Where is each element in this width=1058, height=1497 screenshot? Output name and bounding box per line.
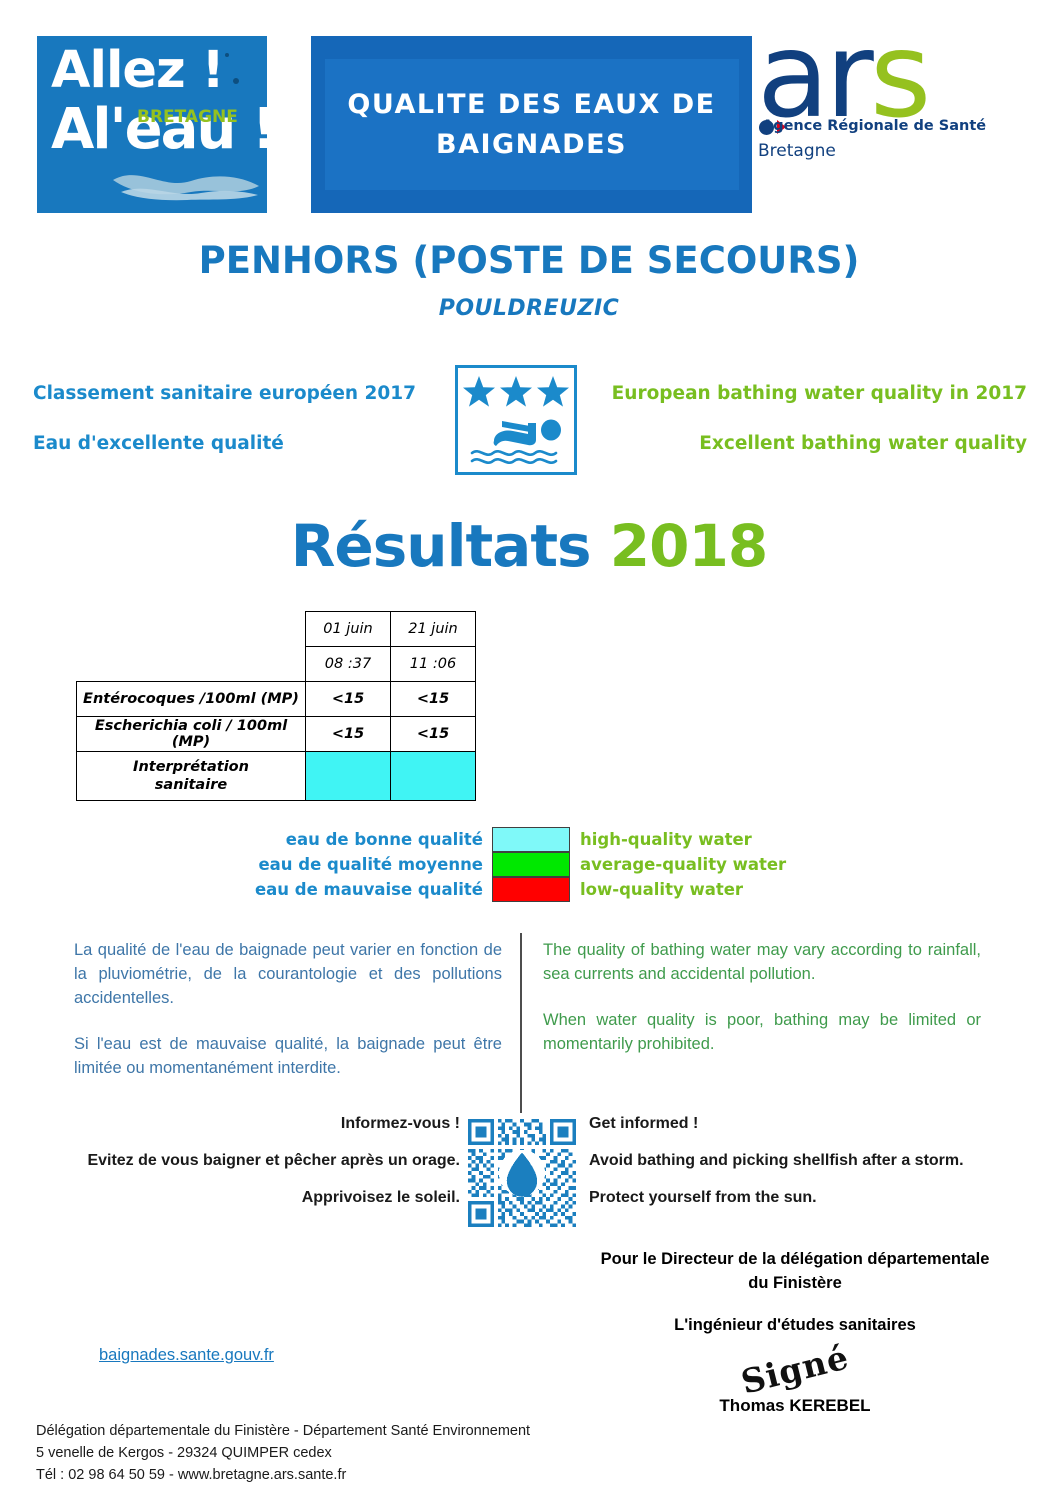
signature-block: Pour le Directeur de la délégation dépar…	[560, 1248, 1030, 1416]
vertical-divider	[520, 933, 522, 1113]
results-table: 01 juin 21 juin 08 :37 11 :06 Entérocoqu…	[76, 611, 476, 801]
logo-dot-medium	[233, 78, 239, 84]
signature-mark: Signé	[560, 1338, 1030, 1396]
table-cell-ecoli-2: <15	[391, 717, 476, 752]
document-footer: Délégation départementale du Finistère -…	[36, 1421, 530, 1486]
stars-icon	[463, 376, 569, 407]
advice-en-line-3: Protect yourself from the sun.	[589, 1189, 1039, 1207]
advice-en-line-2: Avoid bathing and picking shellfish afte…	[589, 1152, 1039, 1170]
signature-line-2: du Finistère	[560, 1272, 1030, 1296]
advice-list-fr: Informez-vous ! Evitez de vous baigner e…	[0, 1115, 460, 1226]
three-star-swimmer-badge	[455, 365, 577, 475]
info-fr-paragraph-2: Si l'eau est de mauvaise qualité, la bai…	[74, 1033, 502, 1081]
advice-fr-line-2: Evitez de vous baigner et pêcher après u…	[0, 1152, 460, 1170]
footer-line-1: Délégation départementale du Finistère -…	[36, 1421, 530, 1443]
table-cell-ecoli-1: <15	[306, 717, 391, 752]
logo-bretagne-label: BRETAGNE	[137, 109, 238, 126]
table-row: Escherichia coli / 100ml (MP) <15 <15	[77, 717, 476, 752]
table-time-2: 11 :06	[391, 647, 476, 682]
ars-logo: ars Agence Régionale de Santé Bretagne	[757, 26, 1022, 196]
table-row-dates: 01 juin 21 juin	[77, 612, 476, 647]
legend-fr-average: eau de qualité moyenne	[0, 855, 492, 874]
results-heading-word: Résultats	[291, 512, 591, 580]
classification-section: Classement sanitaire européen 2017 Eau d…	[0, 365, 1058, 485]
table-row-label-interpretation: Interprétation sanitaire	[77, 752, 306, 801]
ars-subtitle: Agence Régionale de Santé	[762, 118, 986, 134]
classification-en-title: European bathing water quality in 2017	[612, 383, 1027, 404]
classification-en-value: Excellent bathing water quality	[699, 433, 1027, 454]
page-subtitle-city: POULDREUZIC	[0, 296, 1058, 321]
legend-fr-low: eau de mauvaise qualité	[0, 880, 492, 899]
advice-list-en: Get informed ! Avoid bathing and picking…	[589, 1115, 1039, 1226]
signed-word: Signé	[737, 1337, 853, 1401]
signature-spacer	[560, 1296, 1030, 1314]
table-time-1: 08 :37	[306, 647, 391, 682]
document-header: Allez ! Al'eau ! BRETAGNE QUALITE DES EA…	[0, 0, 1058, 225]
classification-fr-title: Classement sanitaire européen 2017	[33, 383, 416, 404]
table-row-label-ecoli: Escherichia coli / 100ml (MP)	[77, 717, 306, 752]
legend-en-low: low-quality water	[570, 880, 743, 899]
banner-inner: QUALITE DES EAUX DE BAIGNADES	[325, 59, 739, 190]
footer-line-2: 5 venelle de Kergos - 29324 QUIMPER cede…	[36, 1443, 530, 1465]
info-section: La qualité de l'eau de baignade peut var…	[0, 933, 1058, 1098]
qr-code-graphic	[468, 1113, 576, 1233]
banner-line-1: QUALITE DES EAUX DE	[347, 85, 715, 124]
legend-row-low: eau de mauvaise qualité low-quality wate…	[0, 877, 1058, 902]
legend-swatch-high	[492, 827, 570, 852]
info-paragraphs-fr: La qualité de l'eau de baignade peut var…	[74, 939, 502, 1103]
ars-wordmark: ars	[757, 16, 927, 134]
info-en-paragraph-1: The quality of bathing water may vary ac…	[543, 939, 981, 987]
legend-swatch-average	[492, 852, 570, 877]
legend-fr-high: eau de bonne qualité	[0, 830, 492, 849]
table-cell-enterocoques-1: <15	[306, 682, 391, 717]
interpretation-label-line2: sanitaire	[77, 776, 305, 794]
waves-icon	[472, 451, 556, 462]
advice-en-line-1: Get informed !	[589, 1115, 1039, 1133]
advice-fr-line-1: Informez-vous !	[0, 1115, 460, 1133]
signature-line-1: Pour le Directeur de la délégation dépar…	[560, 1248, 1030, 1272]
table-date-1: 01 juin	[306, 612, 391, 647]
table-corner-cell	[77, 612, 306, 647]
table-row: Entérocoques /100ml (MP) <15 <15	[77, 682, 476, 717]
footer-line-3: Tél : 02 98 64 50 59 - www.bretagne.ars.…	[36, 1465, 530, 1487]
allez-a-leau-logo: Allez ! Al'eau ! BRETAGNE	[37, 36, 267, 213]
table-row-times: 08 :37 11 :06	[77, 647, 476, 682]
results-heading: Résultats 2018	[0, 512, 1058, 580]
info-en-paragraph-2: When water quality is poor, bathing may …	[543, 1009, 981, 1057]
qr-code[interactable]	[468, 1113, 576, 1233]
classification-fr-value: Eau d'excellente qualité	[33, 433, 284, 454]
banner-line-2: BAIGNADES	[436, 125, 627, 164]
logo-line-allez: Allez !	[51, 45, 224, 96]
legend-row-average: eau de qualité moyenne average-quality w…	[0, 852, 1058, 877]
badge-graphic	[458, 368, 574, 472]
info-paragraphs-en: The quality of bathing water may vary ac…	[543, 939, 981, 1079]
legend-en-high: high-quality water	[570, 830, 752, 849]
interpretation-label-line1: Interprétation	[77, 758, 305, 776]
document-page: Allez ! Al'eau ! BRETAGNE QUALITE DES EA…	[0, 0, 1058, 1497]
interpretation-swatch-1	[306, 752, 391, 801]
interpretation-swatch-2	[391, 752, 476, 801]
table-date-2: 21 juin	[391, 612, 476, 647]
legend-row-high: eau de bonne qualité high-quality water	[0, 827, 1058, 852]
signatory-name: Thomas KEREBEL	[560, 1396, 1030, 1416]
signature-line-3: L'ingénieur d'études sanitaires	[560, 1314, 1030, 1338]
document-banner: QUALITE DES EAUX DE BAIGNADES	[311, 36, 752, 213]
baignades-site-link[interactable]: baignades.sante.gouv.fr	[99, 1346, 274, 1365]
wave-icon	[111, 164, 261, 202]
info-fr-paragraph-1: La qualité de l'eau de baignade peut var…	[74, 939, 502, 1011]
ars-region: Bretagne	[758, 141, 836, 161]
legend-en-average: average-quality water	[570, 855, 786, 874]
table-cell-enterocoques-2: <15	[391, 682, 476, 717]
logo-dot-small	[225, 53, 229, 57]
table-row-interpretation: Interprétation sanitaire	[77, 752, 476, 801]
table-blank-cell	[77, 647, 306, 682]
page-title: PENHORS (POSTE DE SECOURS)	[0, 239, 1058, 282]
advice-fr-line-3: Apprivoisez le soleil.	[0, 1189, 460, 1207]
legend-swatch-low	[492, 877, 570, 902]
quality-legend: eau de bonne qualité high-quality water …	[0, 827, 1058, 909]
swimmer-icon	[494, 420, 561, 447]
table-row-label-enterocoques: Entérocoques /100ml (MP)	[77, 682, 306, 717]
results-heading-year: 2018	[610, 512, 767, 580]
